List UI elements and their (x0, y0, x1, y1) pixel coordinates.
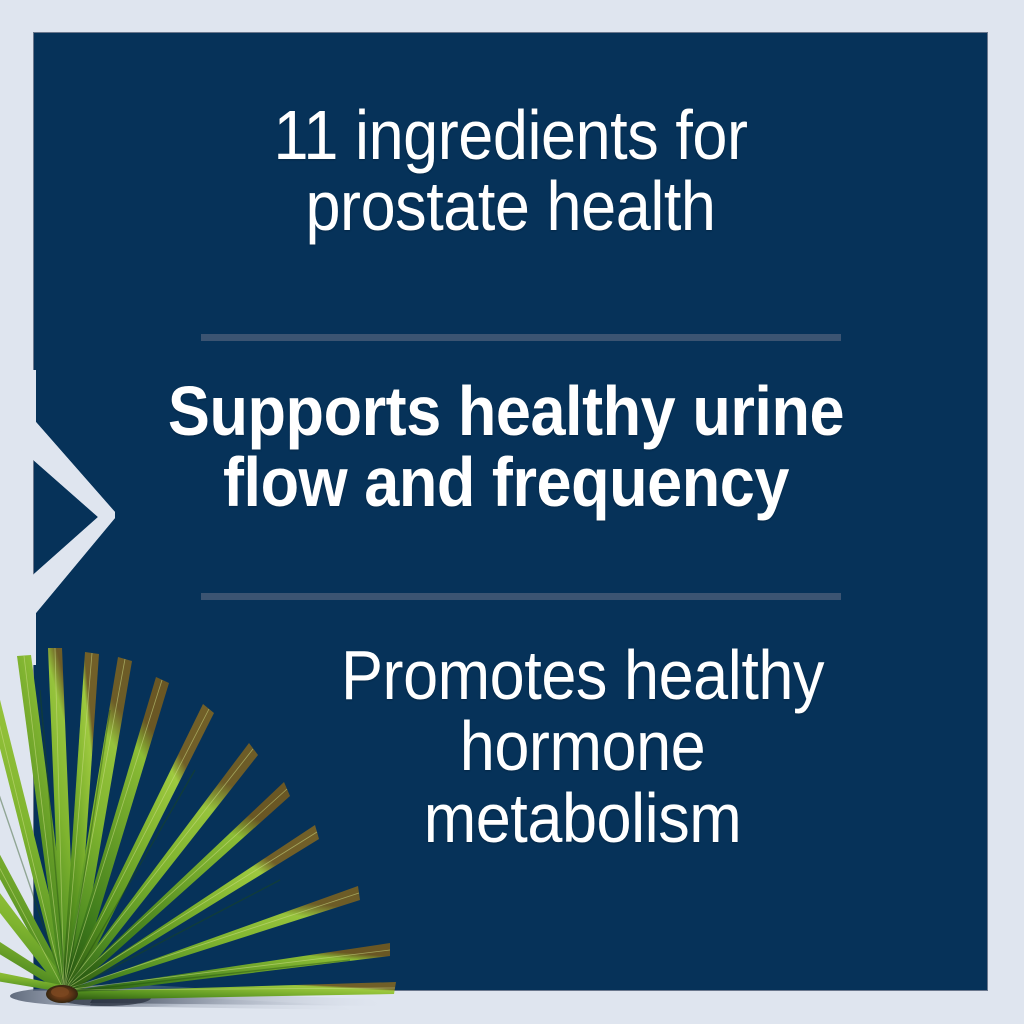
benefit-text-3: Promotes healthy hormone metabolism (82, 640, 940, 854)
chevron-right-icon (0, 370, 115, 665)
divider-rule-2 (201, 593, 841, 600)
benefit-text-1: 11 ingredients for prostate health (82, 100, 940, 243)
benefit-text-2: Supports healthy urine flow and frequenc… (82, 376, 940, 519)
divider-rule-1 (201, 334, 841, 341)
callout-card: 11 ingredients for prostate health Suppo… (0, 0, 1024, 1024)
